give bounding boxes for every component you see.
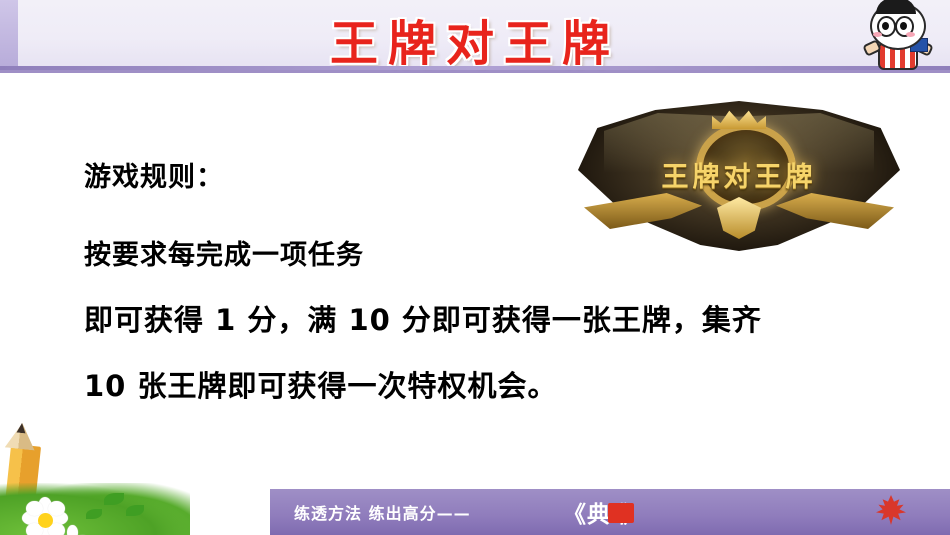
body-line-2: 按要求每完成一项任务	[84, 233, 364, 272]
body-line-3: 即可获得 1 分，满 10 分即可获得一张王牌，集齐	[84, 297, 762, 339]
slide: 王牌对王牌 王牌对王牌 游戏规则：	[0, 0, 950, 535]
body-line-4: 10 张王牌即可获得一次特权机会。	[84, 363, 557, 405]
daisy-flower-icon-small	[56, 525, 90, 535]
brand-stamp-icon	[608, 503, 634, 523]
footer-slogan: 练透方法 练出高分——	[294, 500, 471, 524]
show-logo-emblem: 王牌对王牌	[578, 101, 900, 251]
slide-body: 王牌对王牌 游戏规则： 按要求每完成一项任务 即可获得 1 分，满 10 分即可…	[0, 73, 950, 535]
header-divider	[0, 66, 950, 70]
body-line-1: 游戏规则：	[84, 155, 224, 194]
cartoon-boy-mascot-icon	[862, 2, 932, 70]
logo-text: 王牌对王牌	[578, 155, 900, 194]
page-title: 王牌对王牌	[0, 4, 950, 74]
footer-bar: 练透方法 练出高分—— 《典 》	[270, 489, 950, 535]
maple-leaf-icon	[876, 495, 906, 525]
slide-header: 王牌对王牌	[0, 0, 950, 73]
